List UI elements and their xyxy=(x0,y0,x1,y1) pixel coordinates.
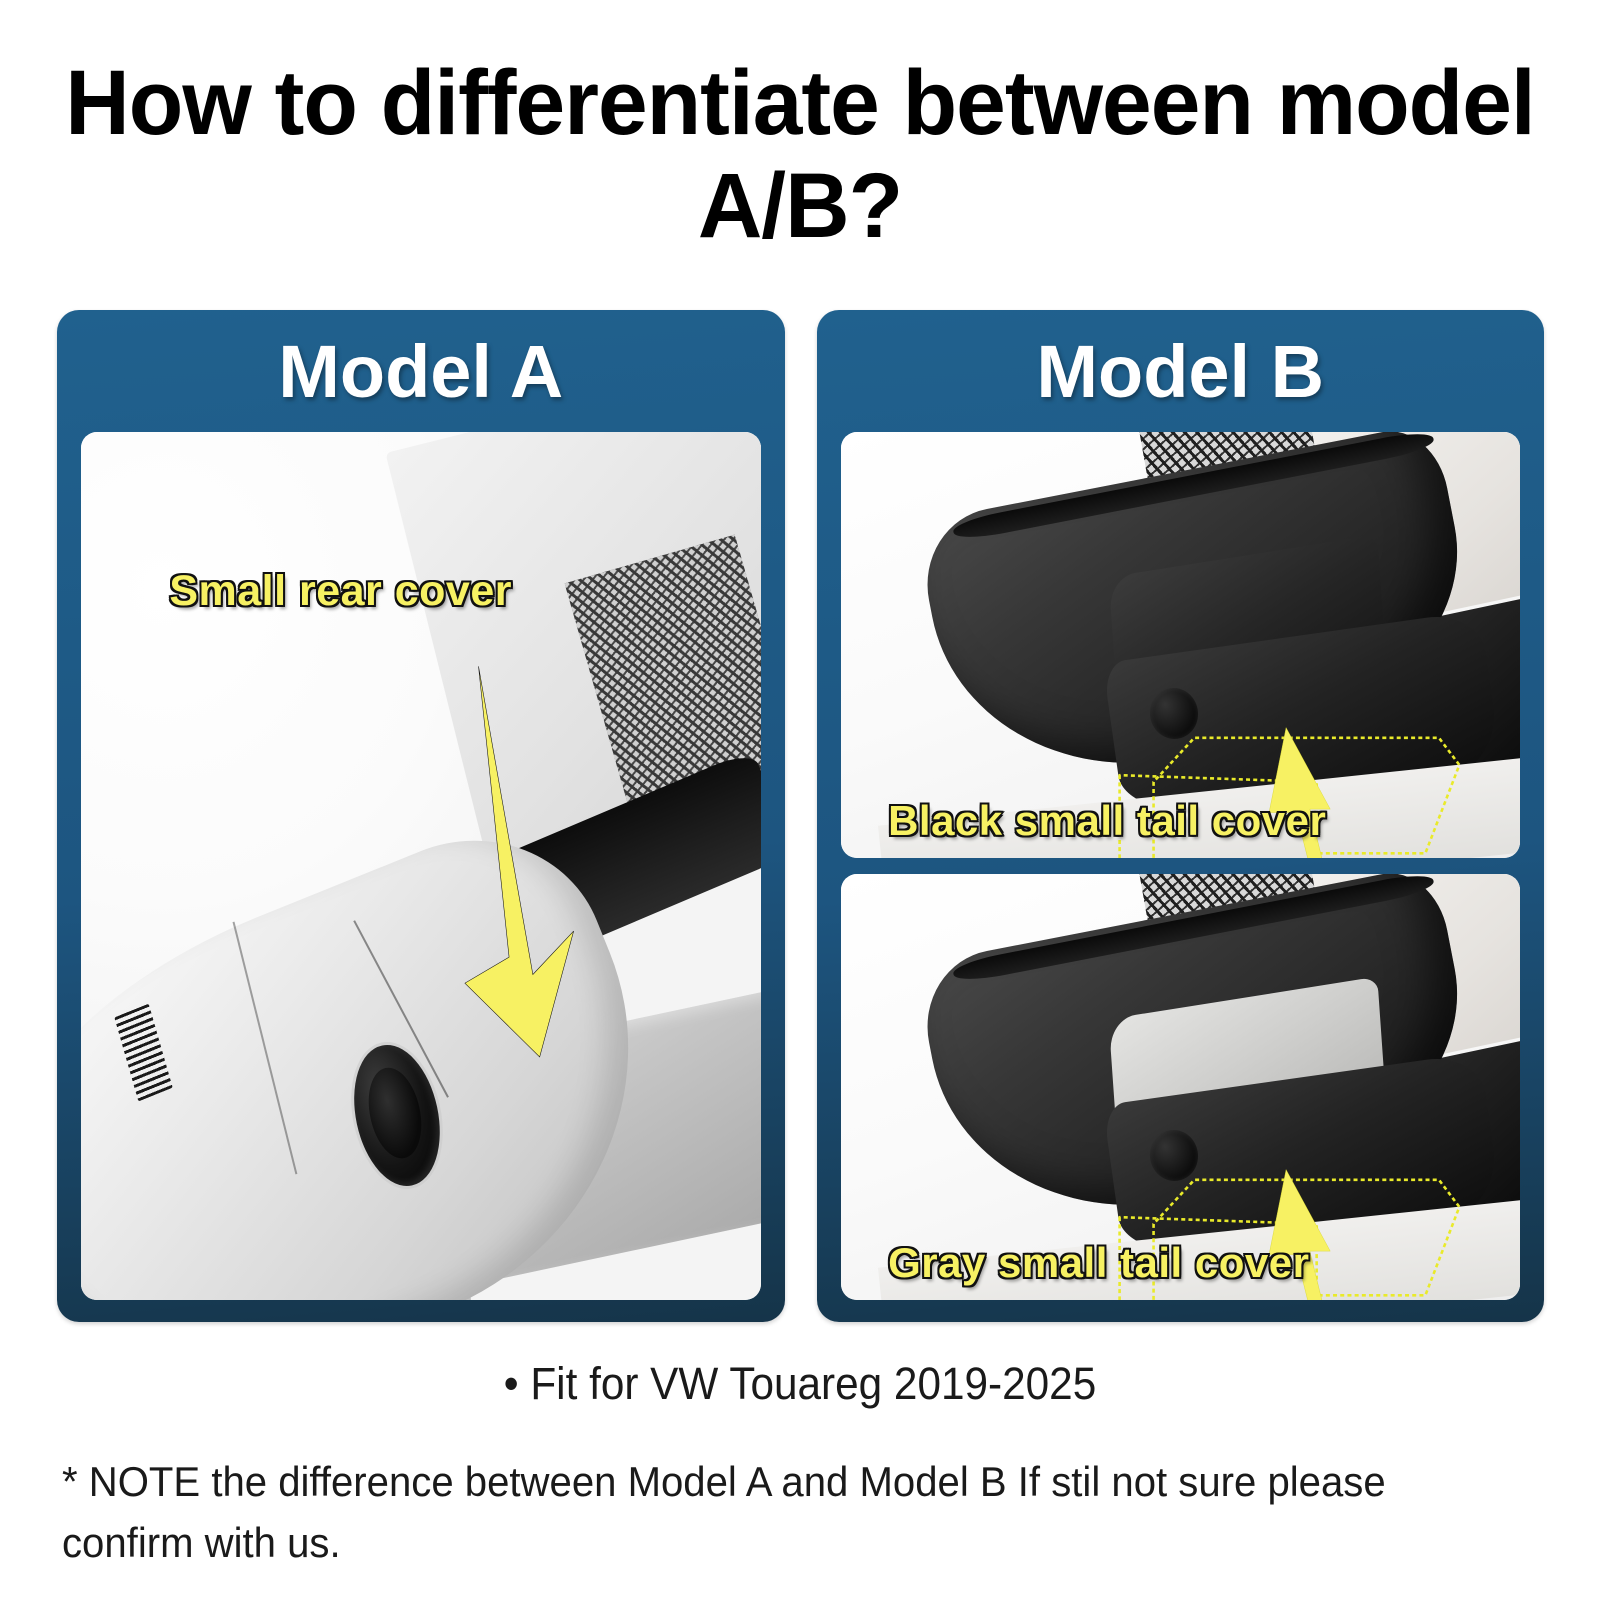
highlight-overlay-black xyxy=(841,432,1521,858)
down-right-arrow-icon xyxy=(81,432,761,1300)
panel-header-model-b: Model B xyxy=(817,310,1545,432)
annotation-black-small-tail-cover: Black small tail cover xyxy=(888,797,1326,845)
highlight-overlay-gray xyxy=(841,874,1521,1300)
note-text: * NOTE the difference between Model A an… xyxy=(62,1452,1472,1574)
panel-body-model-a: Small rear cover xyxy=(81,432,761,1300)
scene-model-b-black: Black small tail cover xyxy=(841,432,1521,858)
scene-model-a: Small rear cover xyxy=(81,432,761,1300)
scene-model-b-gray: Gray small tail cover xyxy=(841,874,1521,1300)
panel-header-model-a: Model A xyxy=(57,310,785,432)
panel-model-a: Model A xyxy=(57,310,785,1322)
model-comparison-panels: Model A xyxy=(57,310,1544,1322)
panel-model-b: Model B xyxy=(817,310,1545,1322)
page-title: How to differentiate between model A/B? xyxy=(63,52,1537,258)
annotation-gray-small-tail-cover: Gray small tail cover xyxy=(888,1239,1309,1287)
photo-model-a: Small rear cover xyxy=(81,432,761,1300)
infographic-page: How to differentiate between model A/B? … xyxy=(0,0,1600,1600)
fitment-line: • Fit for VW Touareg 2019-2025 xyxy=(86,1358,1515,1410)
photo-model-b-black: Black small tail cover xyxy=(841,432,1521,858)
panel-body-model-b: Black small tail cover xyxy=(841,432,1521,1300)
photo-model-b-gray: Gray small tail cover xyxy=(841,874,1521,1300)
annotation-small-rear-cover: Small rear cover xyxy=(169,567,512,616)
